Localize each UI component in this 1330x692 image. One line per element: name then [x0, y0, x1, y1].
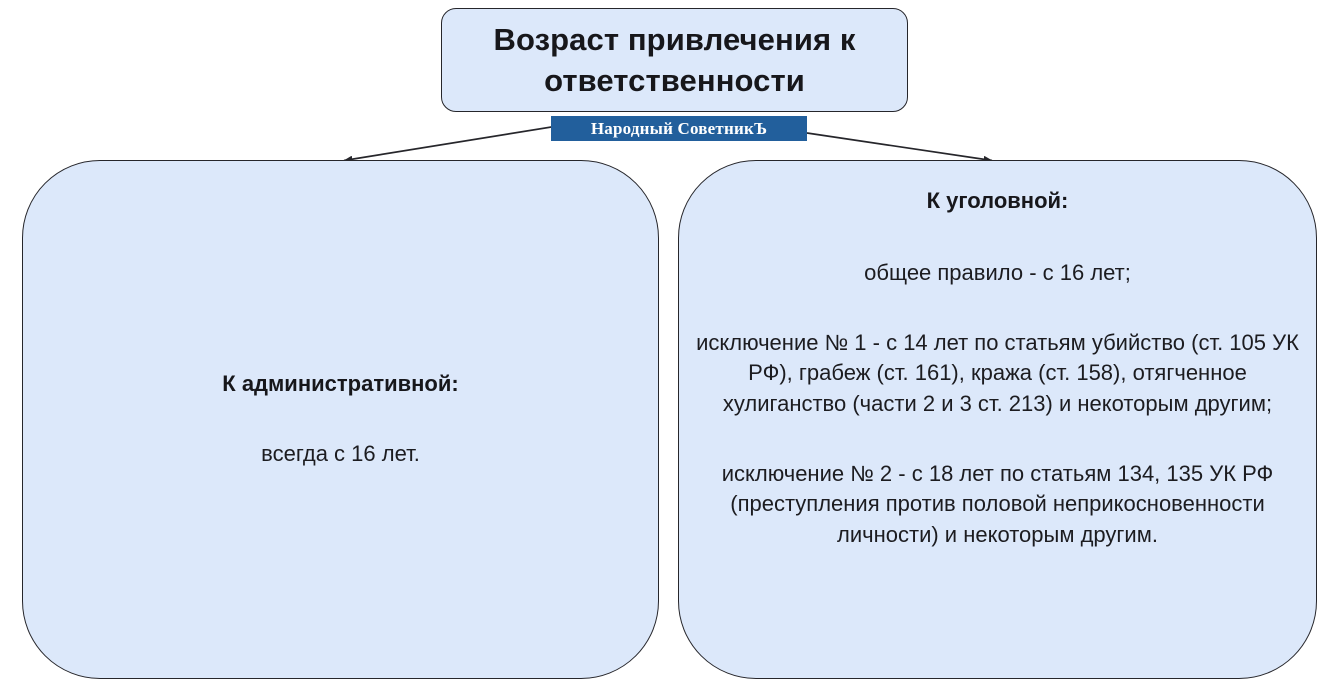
watermark-label: Народный СоветникЪ	[591, 119, 767, 139]
page-title: Возраст привлечения к ответственности	[442, 19, 907, 101]
connector-to-administrative	[344, 124, 570, 161]
diagram-canvas: Возраст привлечения к ответственности На…	[0, 0, 1330, 692]
branch-box-criminal: К уголовной: общее правило - с 16 лет; и…	[678, 160, 1317, 679]
branch-heading-administrative: К административной:	[222, 370, 458, 399]
branch-paragraph-criminal-2: исключение № 1 - с 14 лет по статьям уби…	[694, 328, 1302, 419]
branch-heading-criminal: К уголовной:	[927, 187, 1069, 216]
branch-box-administrative: К административной: всегда с 16 лет.	[22, 160, 659, 679]
connector-to-criminal	[807, 133, 992, 161]
branch-paragraph-criminal-1: общее правило - с 16 лет;	[864, 258, 1131, 288]
title-node: Возраст привлечения к ответственности	[441, 8, 908, 112]
watermark-badge: Народный СоветникЪ	[551, 116, 807, 141]
branch-paragraph-administrative-1: всегда с 16 лет.	[261, 439, 420, 469]
branch-paragraph-criminal-3: исключение № 2 - с 18 лет по статьям 134…	[694, 459, 1302, 550]
